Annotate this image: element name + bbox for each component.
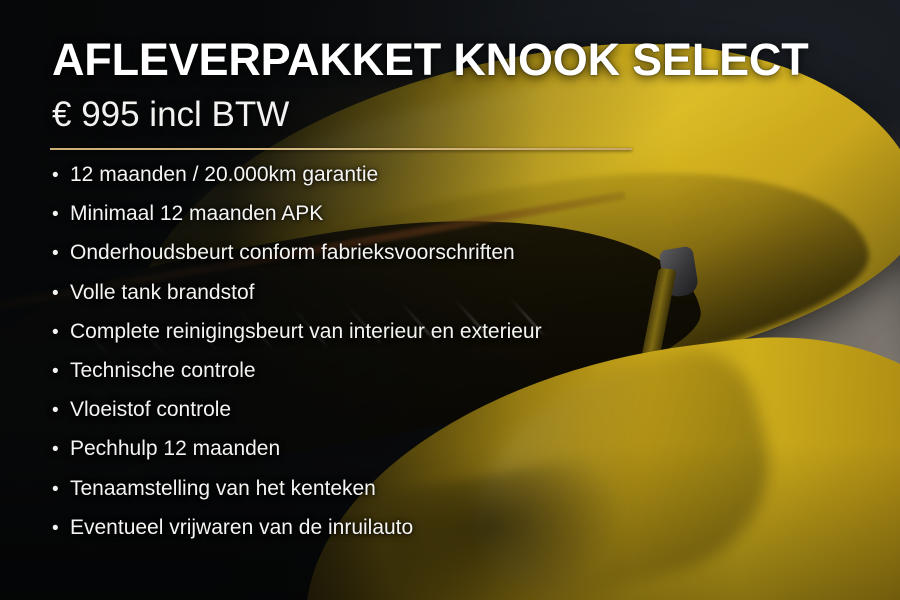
list-item-label: Volle tank brandstof: [70, 281, 254, 305]
bullet-dot-icon: •: [52, 401, 70, 420]
list-item: •Minimaal 12 maanden APK: [52, 202, 542, 241]
list-item-label: Onderhoudsbeurt conform fabrieksvoorschr…: [70, 241, 515, 265]
page-title: AFLEVERPAKKET KNOOK SELECT: [52, 34, 809, 86]
bullet-dot-icon: •: [52, 480, 70, 499]
bullet-dot-icon: •: [52, 166, 70, 185]
list-item: •Volle tank brandstof: [52, 281, 542, 320]
list-item-label: 12 maanden / 20.000km garantie: [70, 163, 378, 187]
list-item: •Technische controle: [52, 359, 542, 398]
list-item-label: Complete reinigingsbeurt van interieur e…: [70, 320, 542, 344]
list-item: •Pechhulp 12 maanden: [52, 437, 542, 476]
list-item: •Tenaamstelling van het kenteken: [52, 477, 542, 516]
list-item-label: Minimaal 12 maanden APK: [70, 202, 323, 226]
bullet-dot-icon: •: [52, 323, 70, 342]
list-item-label: Pechhulp 12 maanden: [70, 437, 280, 461]
list-item-label: Technische controle: [70, 359, 256, 383]
bullet-dot-icon: •: [52, 362, 70, 381]
price-subtitle: € 995 incl BTW: [52, 95, 289, 135]
feature-list: •12 maanden / 20.000km garantie•Minimaal…: [52, 163, 542, 555]
bullet-dot-icon: •: [52, 244, 70, 263]
bullet-dot-icon: •: [52, 205, 70, 224]
slide-content: AFLEVERPAKKET KNOOK SELECT € 995 incl BT…: [0, 0, 900, 600]
list-item-label: Eventueel vrijwaren van de inruilauto: [70, 516, 413, 540]
bullet-dot-icon: •: [52, 519, 70, 538]
bullet-dot-icon: •: [52, 284, 70, 303]
divider: [50, 148, 632, 150]
promo-slide: AFLEVERPAKKET KNOOK SELECT € 995 incl BT…: [0, 0, 900, 600]
bullet-dot-icon: •: [52, 440, 70, 459]
list-item-label: Vloeistof controle: [70, 398, 231, 422]
list-item: •Vloeistof controle: [52, 398, 542, 437]
list-item: •12 maanden / 20.000km garantie: [52, 163, 542, 202]
list-item: •Onderhoudsbeurt conform fabrieksvoorsch…: [52, 241, 542, 280]
list-item-label: Tenaamstelling van het kenteken: [70, 477, 376, 501]
list-item: •Eventueel vrijwaren van de inruilauto: [52, 516, 542, 555]
list-item: •Complete reinigingsbeurt van interieur …: [52, 320, 542, 359]
